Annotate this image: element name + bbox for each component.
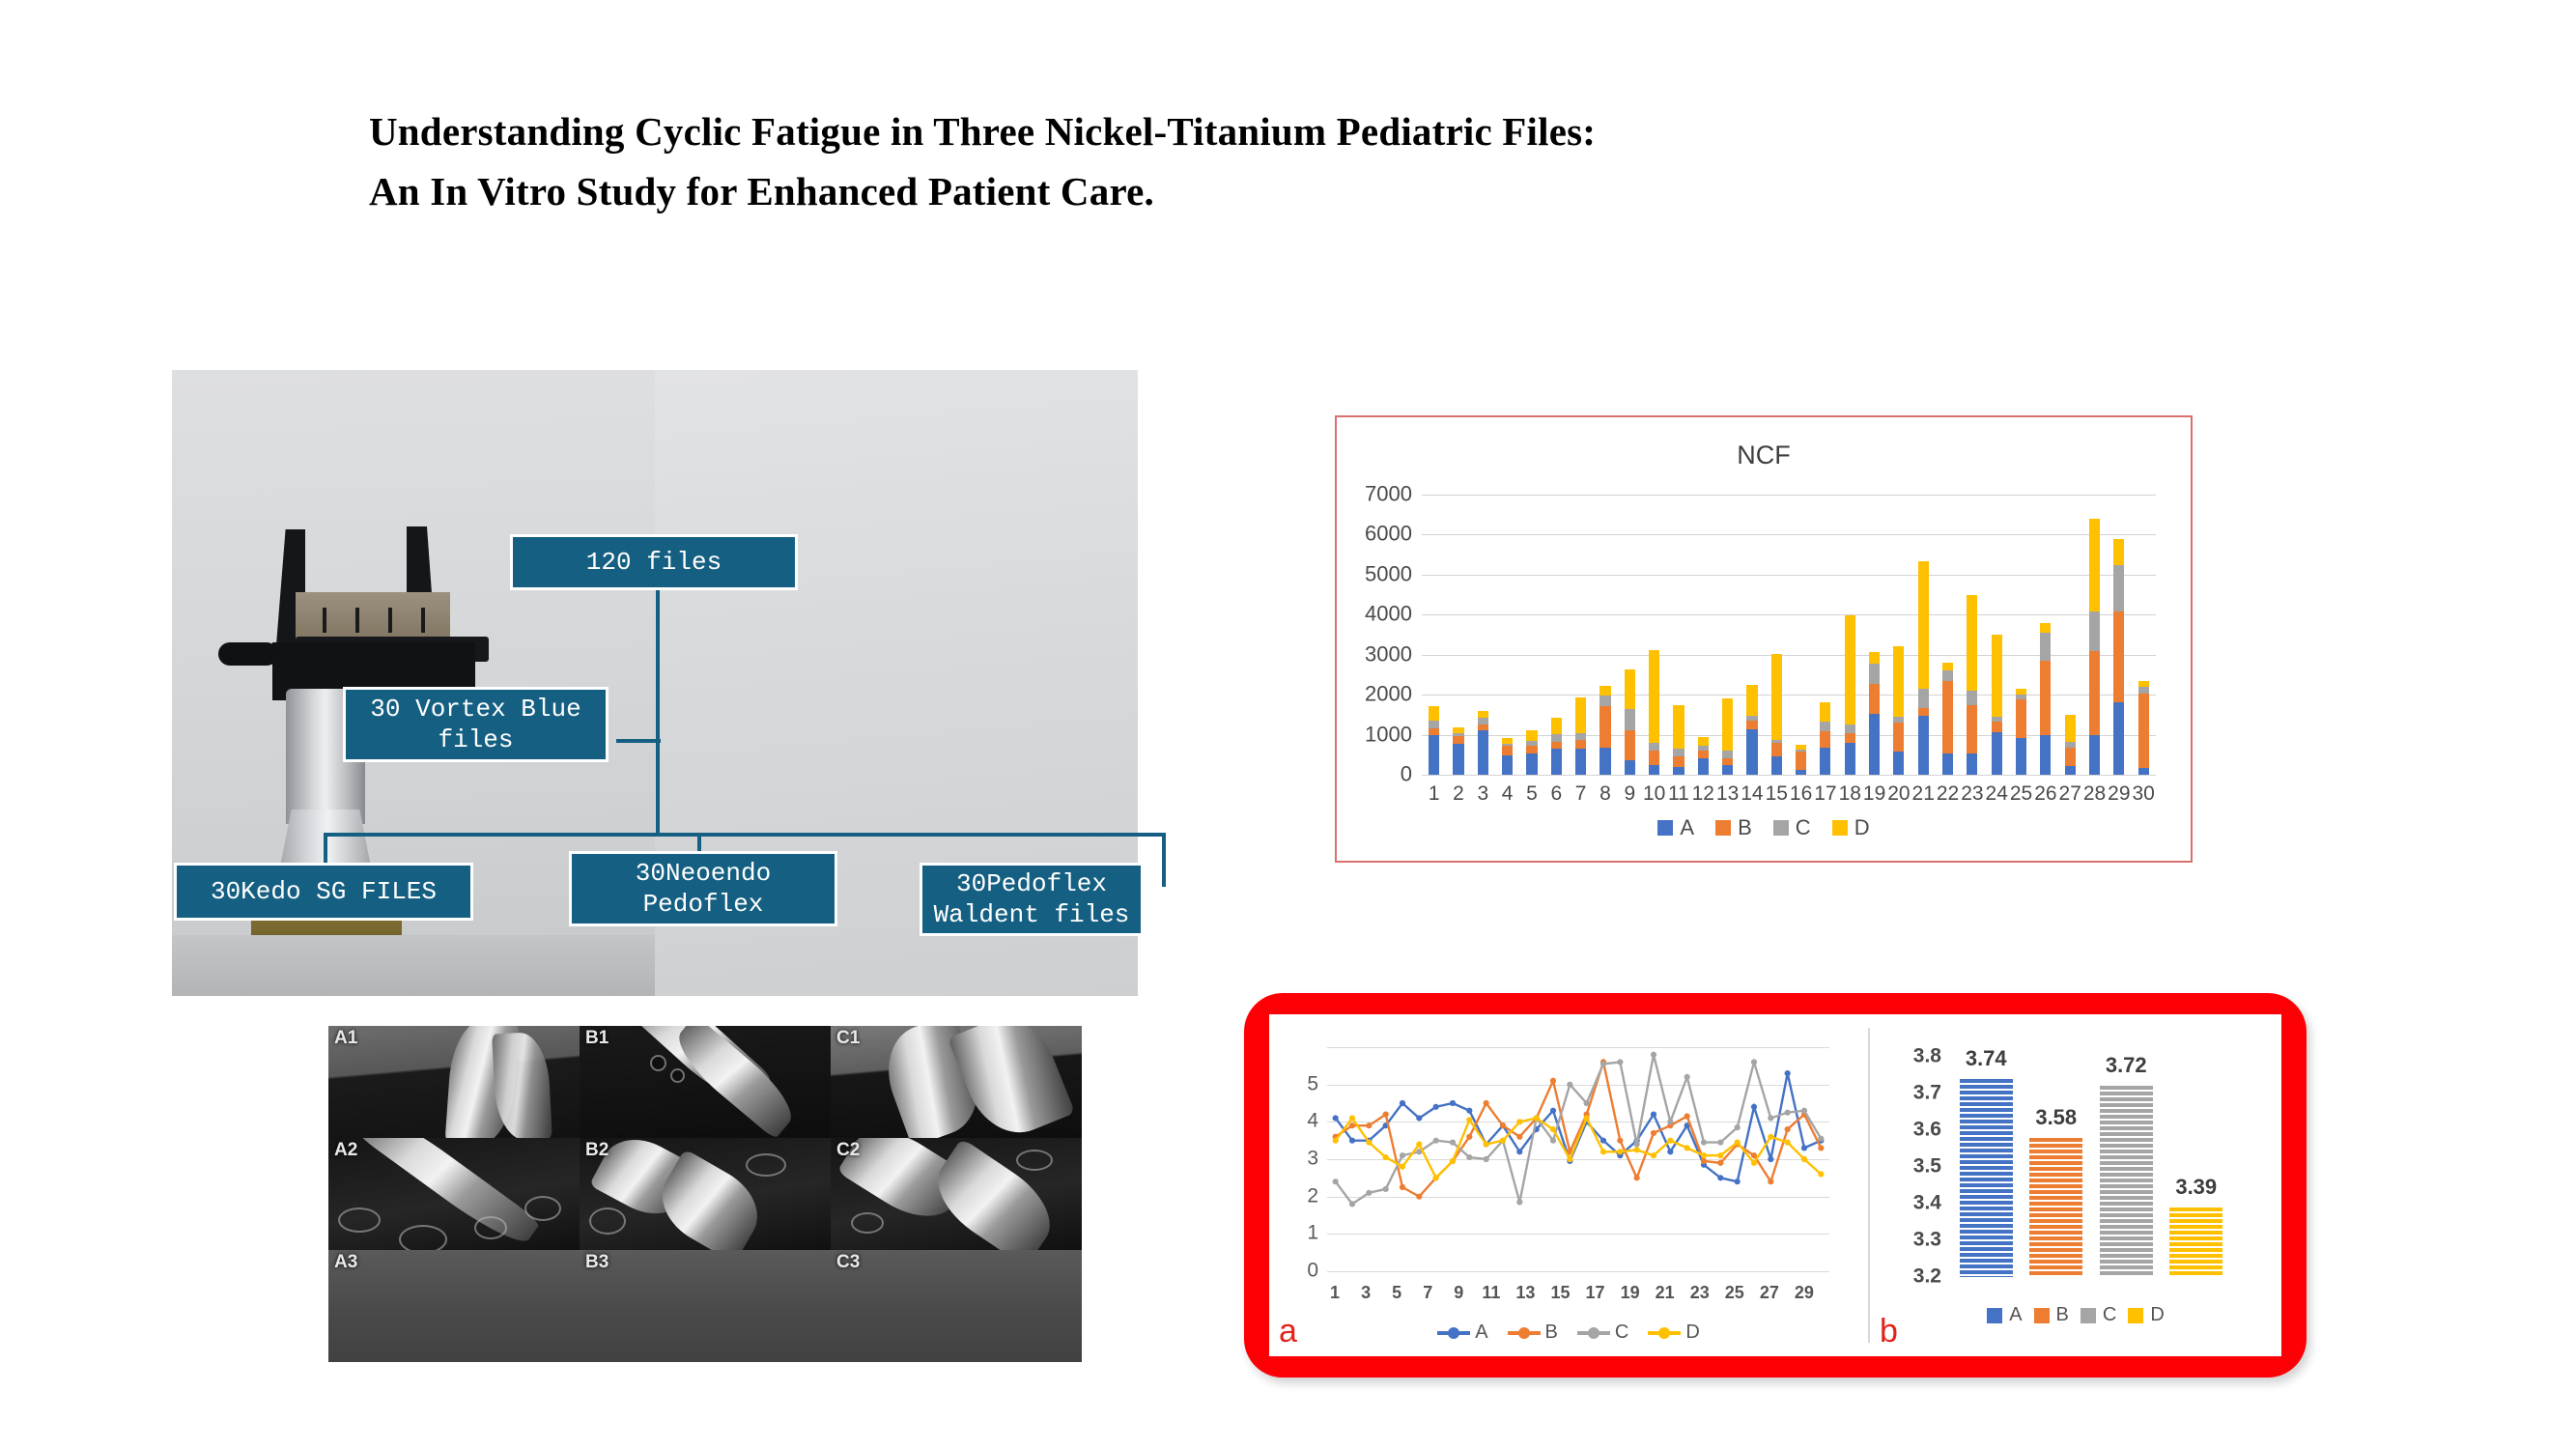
ncf-bar-slot xyxy=(1715,495,1740,775)
ncf-legend-item-d[interactable]: D xyxy=(1832,815,1870,840)
ncf-bar-slot xyxy=(1422,495,1446,775)
ncf-bar-slot xyxy=(1789,495,1813,775)
ncf-legend-item-a[interactable]: A xyxy=(1657,815,1694,840)
ncf-y-tick: 3000 xyxy=(1365,641,1412,667)
ncf-bar-segment-d xyxy=(2113,539,2124,565)
ncf-bar-slot xyxy=(1765,495,1789,775)
panel-a-point-c xyxy=(1651,1052,1656,1058)
panel-b-bar-column: 3.39 xyxy=(2169,1057,2222,1277)
panel-a-point-c xyxy=(1466,1154,1472,1160)
ncf-bar-stack xyxy=(1599,686,1610,775)
panel-a-x-tick xyxy=(1404,1283,1420,1303)
ncf-bar-segment-d xyxy=(1845,615,1855,724)
panel-a-x-tick xyxy=(1814,1283,1829,1303)
panel-a-x-tick: 29 xyxy=(1795,1283,1814,1303)
panel-a-x-tick: 9 xyxy=(1451,1283,1466,1303)
panel-b-legend-item-d[interactable]: D xyxy=(2128,1304,2164,1326)
ncf-bar-stack xyxy=(1575,697,1586,775)
panel-b-bar-column: 3.72 xyxy=(2100,1057,2153,1277)
panel-a-point-b xyxy=(1516,1134,1522,1140)
ncf-bar-segment-d xyxy=(1918,561,1929,689)
ncf-x-tick: 11 xyxy=(1666,782,1690,806)
ncf-bar-segment-a xyxy=(1698,758,1709,775)
panel-a-plot-area: 012345 xyxy=(1327,1047,1829,1271)
ncf-bar-stack xyxy=(1625,669,1635,775)
panel-a-x-tick: 1 xyxy=(1327,1283,1343,1303)
panel-a-point-c xyxy=(1433,1138,1439,1144)
panel-a-point-b xyxy=(1416,1194,1422,1200)
ncf-bar-stack xyxy=(1673,705,1684,775)
ncf-bar-slot xyxy=(1471,495,1495,775)
ncf-bar-segment-b xyxy=(1453,736,1463,744)
ncf-bar-segment-b xyxy=(1869,684,1880,714)
ncf-bar-slot xyxy=(1691,495,1715,775)
ncf-x-tick: 7 xyxy=(1569,782,1593,806)
legend-label: A xyxy=(2009,1304,2022,1326)
panel-a-point-a xyxy=(1801,1145,1807,1151)
ncf-bar-segment-b xyxy=(2113,611,2124,702)
ncf-bar-series xyxy=(1422,495,2156,775)
ncf-x-tick: 24 xyxy=(1985,782,2009,806)
panel-a-point-a xyxy=(1751,1104,1757,1110)
panel-b-y-tick: 3.7 xyxy=(1913,1082,1941,1105)
ncf-bar-segment-a xyxy=(1599,748,1610,775)
ncf-bar-segment-d xyxy=(1429,706,1439,721)
ncf-bar-slot xyxy=(1838,495,1862,775)
ncf-bar-slot xyxy=(1544,495,1569,775)
ncf-bar-segment-c xyxy=(1918,689,1929,708)
panel-a-point-c xyxy=(1701,1140,1707,1146)
title-line-1: Understanding Cyclic Fatigue in Three Ni… xyxy=(369,109,1596,154)
sem-cell-a3: A3 xyxy=(328,1250,580,1362)
panel-a-point-b xyxy=(1818,1145,1824,1151)
ncf-x-tick: 10 xyxy=(1642,782,1666,806)
ncf-bar-segment-c xyxy=(1967,691,1977,705)
ncf-bar-segment-c xyxy=(1599,696,1610,706)
ncf-bar-segment-c xyxy=(1673,749,1684,757)
panel-a-letter: a xyxy=(1279,1313,1297,1350)
legend-label: C xyxy=(1796,815,1811,840)
ncf-bar-stack xyxy=(1551,718,1562,775)
ncf-bar-segment-b xyxy=(2040,661,2051,735)
panel-a-x-tick: 27 xyxy=(1760,1283,1779,1303)
panel-a-point-d xyxy=(1450,1158,1456,1164)
callout-pedoflex-waldent: 30Pedoflex Waldent files xyxy=(920,863,1144,936)
panel-a-point-a xyxy=(1717,1175,1723,1180)
ncf-bar-segment-a xyxy=(2113,702,2124,775)
sem-cell-b3: B3 xyxy=(580,1250,831,1362)
panel-a-x-tick xyxy=(1373,1283,1389,1303)
ncf-bar-segment-a xyxy=(1453,744,1463,775)
ncf-legend: ABCD xyxy=(1337,815,2191,840)
panel-a-x-tick: 25 xyxy=(1725,1283,1744,1303)
panel-a-line-d xyxy=(1336,1118,1822,1178)
panel-a-point-d xyxy=(1534,1115,1540,1121)
connector-bus xyxy=(324,833,1166,837)
ncf-bar-stack xyxy=(1478,711,1488,775)
ncf-bar-segment-d xyxy=(2065,715,2076,742)
ncf-bar-stack xyxy=(1771,654,1782,775)
panel-a-y-tick: 2 xyxy=(1307,1184,1318,1207)
ncf-bar-segment-b xyxy=(1942,681,1953,753)
panel-a-x-tick xyxy=(1710,1283,1725,1303)
ncf-bar-segment-b xyxy=(1502,746,1513,755)
panel-a-x-tick xyxy=(1570,1283,1585,1303)
ncf-bar-segment-a xyxy=(1918,716,1929,775)
ncf-bar-slot xyxy=(1593,495,1617,775)
ncf-bar-segment-d xyxy=(1942,663,1953,669)
ncf-bar-slot xyxy=(1569,495,1593,775)
sem-label-a1: A1 xyxy=(334,1028,357,1049)
ncf-plot-area: 01000200030004000500060007000 xyxy=(1422,495,2156,775)
panel-a-point-b xyxy=(1651,1130,1656,1136)
panel-a-point-b xyxy=(1634,1175,1640,1180)
ncf-bar-segment-b xyxy=(1551,742,1562,749)
legend-swatch-icon xyxy=(1987,1308,2002,1323)
ncf-bar-segment-d xyxy=(1869,652,1880,664)
legend-label: D xyxy=(2150,1304,2164,1326)
panel-a-point-c xyxy=(1516,1199,1522,1205)
legend-label: C xyxy=(2103,1304,2116,1326)
legend-swatch-icon xyxy=(1832,820,1848,836)
ncf-bar-stack xyxy=(1893,646,1904,775)
ncf-x-axis-labels: 1234567891011121314151617181920212223242… xyxy=(1422,782,2156,806)
panel-a-point-d xyxy=(1751,1160,1757,1166)
panel-a-point-c xyxy=(1366,1190,1372,1196)
panel-a-x-tick: 19 xyxy=(1621,1283,1640,1303)
ncf-bar-stack xyxy=(1649,650,1659,775)
ncf-bar-segment-d xyxy=(1992,635,2002,717)
ncf-bar-segment-d xyxy=(1673,705,1684,748)
panel-a-point-d xyxy=(1701,1152,1707,1158)
ncf-bar-segment-a xyxy=(1526,753,1537,775)
page-title: Understanding Cyclic Fatigue in Three Ni… xyxy=(369,101,2011,222)
legend-line-icon xyxy=(1648,1331,1681,1335)
panel-a-y-tick: 1 xyxy=(1307,1222,1318,1245)
panel-a-point-b xyxy=(1400,1184,1405,1190)
ncf-bar-segment-b xyxy=(1429,728,1439,735)
panel-a-point-c xyxy=(1349,1201,1355,1207)
panel-a-x-tick xyxy=(1343,1283,1358,1303)
panel-a-legend-item-d[interactable]: D xyxy=(1648,1321,1699,1344)
panel-b-y-tick: 3.4 xyxy=(1913,1192,1941,1215)
panel-a-line-chart: 012345 1357911131517192123252729 ABCD a xyxy=(1269,1014,1868,1356)
ncf-bar-segment-c xyxy=(1820,722,1830,731)
ncf-bar-stack xyxy=(2089,519,2100,775)
panel-b-data-label: 3.39 xyxy=(2175,1175,2217,1200)
legend-label: B xyxy=(1545,1321,1558,1344)
ncf-bar-segment-b xyxy=(1625,730,1635,759)
panel-a-x-tick xyxy=(1779,1283,1795,1303)
legend-line-icon xyxy=(1577,1331,1610,1335)
ncf-bar-segment-c xyxy=(2040,633,2051,661)
panel-a-point-c xyxy=(1667,1119,1673,1124)
panel-a-point-d xyxy=(1433,1175,1439,1180)
callout-vortex-blue-files: 30 Vortex Blue files xyxy=(343,687,609,762)
ncf-bar-segment-a xyxy=(1502,755,1513,775)
panel-a-x-tick xyxy=(1500,1283,1515,1303)
panel-a-legend-item-a[interactable]: A xyxy=(1437,1321,1487,1344)
panel-a-x-tick: 5 xyxy=(1389,1283,1404,1303)
panel-a-point-b xyxy=(1617,1138,1623,1144)
ncf-x-tick: 9 xyxy=(1618,782,1642,806)
panel-a-point-c xyxy=(1717,1140,1723,1146)
panel-a-point-d xyxy=(1801,1156,1807,1162)
ncf-bar-segment-b xyxy=(1746,721,1757,729)
callout-neoendo-pedoflex: 30Neoendo Pedoflex xyxy=(569,851,837,926)
panel-a-point-b xyxy=(1466,1134,1472,1140)
panel-a-point-d xyxy=(1584,1115,1590,1121)
panel-b-legend-item-b[interactable]: B xyxy=(2034,1304,2069,1326)
ncf-bar-segment-b xyxy=(2065,748,2076,766)
ncf-y-tick: 6000 xyxy=(1365,522,1412,547)
ncf-bar-segment-b xyxy=(2138,694,2149,768)
sem-image-grid: A1 B1 C1 A2 B2 C2 A3 B3 xyxy=(328,1026,1082,1362)
connector-waldent xyxy=(1162,833,1166,887)
panel-a-point-d xyxy=(1600,1149,1606,1154)
sem-cell-a2: A2 xyxy=(328,1138,580,1250)
ncf-bar-stack xyxy=(1796,745,1806,775)
panel-b-y-tick: 3.2 xyxy=(1913,1265,1941,1289)
panel-a-y-tick: 3 xyxy=(1307,1148,1318,1171)
sem-label-b2: B2 xyxy=(585,1140,609,1161)
ncf-bar-segment-a xyxy=(1575,749,1586,775)
ncf-bar-segment-b xyxy=(1820,731,1830,748)
sem-label-c1: C1 xyxy=(836,1028,860,1049)
sem-label-c3: C3 xyxy=(836,1252,860,1273)
panel-a-point-c xyxy=(1333,1179,1339,1184)
panel-a-point-a xyxy=(1450,1100,1456,1106)
panel-a-point-a xyxy=(1349,1138,1355,1144)
ncf-x-tick: 1 xyxy=(1422,782,1446,806)
ncf-bar-stack xyxy=(1942,663,1953,775)
legend-swatch-icon xyxy=(1657,820,1673,836)
ncf-bar-segment-a xyxy=(1722,765,1733,775)
panel-a-x-tick: 15 xyxy=(1550,1283,1570,1303)
ncf-bar-stack xyxy=(1869,652,1880,775)
ncf-bar-segment-b xyxy=(1771,743,1782,756)
panel-a-x-tick xyxy=(1744,1283,1760,1303)
panel-a-point-b xyxy=(1550,1078,1556,1084)
ncf-bar-slot xyxy=(1446,495,1470,775)
panel-a-point-a xyxy=(1768,1156,1773,1162)
sem-label-b1: B1 xyxy=(585,1028,609,1049)
ncf-bar-segment-b xyxy=(1698,751,1709,757)
panel-a-point-d xyxy=(1400,1164,1405,1170)
ncf-bar-segment-b xyxy=(1967,705,1977,754)
panel-a-legend: ABCD xyxy=(1269,1321,1868,1344)
panel-b-bar-series: 3.743.583.723.39 xyxy=(1951,1057,2231,1277)
ncf-bar-segment-d xyxy=(1599,686,1610,696)
panel-a-point-d xyxy=(1768,1134,1773,1140)
panel-a-point-c xyxy=(1735,1124,1741,1130)
ncf-bar-segment-b xyxy=(1575,740,1586,748)
panel-b-bar-column: 3.58 xyxy=(2029,1057,2082,1277)
ncf-bar-segment-a xyxy=(2089,735,2100,775)
legend-line-icon xyxy=(1437,1331,1470,1335)
ncf-bar-segment-d xyxy=(2089,519,2100,611)
sem-cell-c2: C2 xyxy=(831,1138,1082,1250)
ncf-bar-stack xyxy=(1526,730,1537,775)
panel-a-point-b xyxy=(1684,1113,1690,1119)
ncf-x-tick: 3 xyxy=(1471,782,1495,806)
sem-label-a3: A3 xyxy=(334,1252,357,1273)
summary-charts-panel: 012345 1357911131517192123252729 ABCD a … xyxy=(1244,993,2307,1378)
ncf-bar-segment-d xyxy=(1526,730,1537,741)
ncf-bar-slot xyxy=(2009,495,2033,775)
ncf-x-tick: 13 xyxy=(1715,782,1740,806)
panel-a-point-a xyxy=(1600,1138,1606,1144)
panel-a-point-b xyxy=(1366,1122,1372,1128)
ncf-bar-segment-d xyxy=(2040,623,2051,633)
panel-b-legend-item-c[interactable]: C xyxy=(2081,1304,2116,1326)
ncf-bar-stack xyxy=(1502,738,1513,775)
title-line-2: An In Vitro Study for Enhanced Patient C… xyxy=(369,161,2011,221)
ncf-bar-segment-a xyxy=(1893,752,1904,775)
panel-b-y-tick: 3.5 xyxy=(1913,1155,1941,1179)
panel-b-bar-d xyxy=(2169,1207,2222,1277)
panel-a-point-d xyxy=(1684,1145,1690,1151)
panel-a-x-tick: 7 xyxy=(1420,1283,1435,1303)
panel-a-point-c xyxy=(1450,1140,1456,1146)
ncf-bar-segment-a xyxy=(1992,732,2002,775)
ncf-bar-slot xyxy=(1936,495,1960,775)
panel-a-legend-item-c[interactable]: C xyxy=(1577,1321,1628,1344)
ncf-bar-segment-a xyxy=(1796,770,1806,775)
ncf-bar-segment-b xyxy=(1649,751,1659,765)
panel-a-x-tick xyxy=(1605,1283,1621,1303)
panel-b-legend: ABCD xyxy=(1870,1304,2281,1326)
ncf-x-tick: 28 xyxy=(2082,782,2107,806)
ncf-y-tick: 4000 xyxy=(1365,602,1412,627)
panel-a-y-tick: 0 xyxy=(1307,1260,1318,1283)
panel-a-point-c xyxy=(1600,1061,1606,1066)
panel-a-point-d xyxy=(1416,1141,1422,1147)
connector-vortex xyxy=(616,739,661,743)
panel-a-point-d xyxy=(1651,1152,1656,1158)
ncf-bar-segment-a xyxy=(2138,768,2149,775)
legend-label: D xyxy=(1685,1321,1699,1344)
panel-a-point-b xyxy=(1500,1122,1506,1128)
ncf-bar-segment-b xyxy=(1796,752,1806,770)
ncf-bar-slot xyxy=(2107,495,2131,775)
panel-a-point-a xyxy=(1735,1179,1741,1184)
panel-a-point-c xyxy=(1567,1082,1572,1088)
panel-a-point-d xyxy=(1484,1141,1489,1147)
panel-b-bar-b xyxy=(2029,1138,2082,1277)
panel-a-x-tick: 3 xyxy=(1358,1283,1373,1303)
ncf-bar-segment-b xyxy=(1845,733,1855,743)
panel-b-data-label: 3.74 xyxy=(1966,1046,2007,1071)
panel-b-data-label: 3.72 xyxy=(2106,1053,2147,1078)
ncf-bar-segment-a xyxy=(1429,735,1439,775)
panel-a-point-d xyxy=(1500,1138,1506,1144)
ncf-bar-segment-d xyxy=(1698,737,1709,746)
ncf-bar-segment-c xyxy=(1869,664,1880,684)
ncf-bar-segment-a xyxy=(1869,714,1880,775)
ncf-bar-slot xyxy=(1495,495,1519,775)
ncf-bar-stack xyxy=(1820,702,1830,775)
ncf-bar-segment-c xyxy=(2138,687,2149,694)
panel-a-point-c xyxy=(1801,1108,1807,1114)
legend-label: B xyxy=(1738,815,1752,840)
legend-swatch-icon xyxy=(2034,1308,2050,1323)
ncf-chart-title: NCF xyxy=(1337,440,2191,470)
ncf-bar-segment-a xyxy=(1845,743,1855,775)
ncf-x-tick: 4 xyxy=(1495,782,1519,806)
legend-line-icon xyxy=(1508,1331,1541,1335)
panel-b-letter: b xyxy=(1880,1313,1898,1350)
panel-a-point-d xyxy=(1717,1152,1723,1158)
panel-a-point-b xyxy=(1383,1112,1389,1118)
ncf-x-tick: 30 xyxy=(2132,782,2156,806)
panel-a-point-d xyxy=(1617,1149,1623,1154)
ncf-bar-segment-a xyxy=(2016,738,2026,775)
panel-b-bar-chart: 3.23.33.43.53.63.73.8 3.743.583.723.39 A… xyxy=(1870,1014,2281,1356)
panel-a-point-c xyxy=(1634,1141,1640,1147)
ncf-bar-segment-d xyxy=(1625,669,1635,710)
ncf-bar-segment-c xyxy=(1625,709,1635,730)
summary-charts-inner: 012345 1357911131517192123252729 ABCD a … xyxy=(1269,1014,2281,1356)
panel-a-x-tick: 23 xyxy=(1690,1283,1710,1303)
panel-a-legend-item-b[interactable]: B xyxy=(1508,1321,1558,1344)
panel-a-point-b xyxy=(1768,1179,1773,1184)
ncf-bar-segment-b xyxy=(2016,699,2026,738)
ncf-bar-segment-b xyxy=(1992,722,2002,732)
panel-a-point-d xyxy=(1818,1171,1824,1177)
ncf-x-tick: 8 xyxy=(1593,782,1617,806)
sem-label-c2: C2 xyxy=(836,1140,860,1161)
ncf-bar-segment-c xyxy=(1478,718,1488,724)
sem-cell-c1: C1 xyxy=(831,1026,1082,1138)
legend-label: C xyxy=(1615,1321,1628,1344)
ncf-x-tick: 15 xyxy=(1765,782,1789,806)
ncf-x-tick: 21 xyxy=(1911,782,1936,806)
ncf-bar-segment-a xyxy=(1551,749,1562,775)
ncf-x-tick: 17 xyxy=(1813,782,1837,806)
ncf-x-tick: 26 xyxy=(2033,782,2057,806)
ncf-x-tick: 22 xyxy=(1936,782,1960,806)
ncf-x-tick: 27 xyxy=(2058,782,2082,806)
legend-swatch-icon xyxy=(2128,1308,2143,1323)
ncf-legend-item-b[interactable]: B xyxy=(1715,815,1752,840)
ncf-bar-segment-b xyxy=(1673,756,1684,766)
panel-b-y-tick: 3.3 xyxy=(1913,1229,1941,1252)
ncf-bar-segment-d xyxy=(1649,650,1659,743)
ncf-bar-segment-c xyxy=(1429,721,1439,727)
ncf-chart-panel: NCF 01000200030004000500060007000 123456… xyxy=(1335,415,2193,863)
ncf-bar-slot xyxy=(1862,495,1886,775)
ncf-bar-stack xyxy=(2138,681,2149,775)
panel-a-point-d xyxy=(1349,1115,1355,1121)
panel-a-x-tick: 17 xyxy=(1586,1283,1605,1303)
panel-a-x-tick xyxy=(1535,1283,1550,1303)
clamp-knob xyxy=(218,642,278,666)
panel-a-x-axis-labels: 1357911131517192123252729 xyxy=(1327,1283,1829,1303)
ncf-bar-stack xyxy=(1698,737,1709,775)
panel-a-point-c xyxy=(1550,1138,1556,1144)
ncf-bar-slot xyxy=(1985,495,2009,775)
callout-120-files: 120 files xyxy=(510,534,798,590)
panel-b-legend-item-a[interactable]: A xyxy=(1987,1304,2022,1326)
panel-b-bar-a xyxy=(1960,1079,2013,1277)
sem-cell-b2: B2 xyxy=(580,1138,831,1250)
panel-a-y-tick: 5 xyxy=(1307,1072,1318,1095)
panel-a-x-tick xyxy=(1675,1283,1690,1303)
panel-a-series-svg xyxy=(1327,1047,1829,1271)
ncf-bar-stack xyxy=(2065,715,2076,775)
ncf-legend-item-c[interactable]: C xyxy=(1773,815,1811,840)
